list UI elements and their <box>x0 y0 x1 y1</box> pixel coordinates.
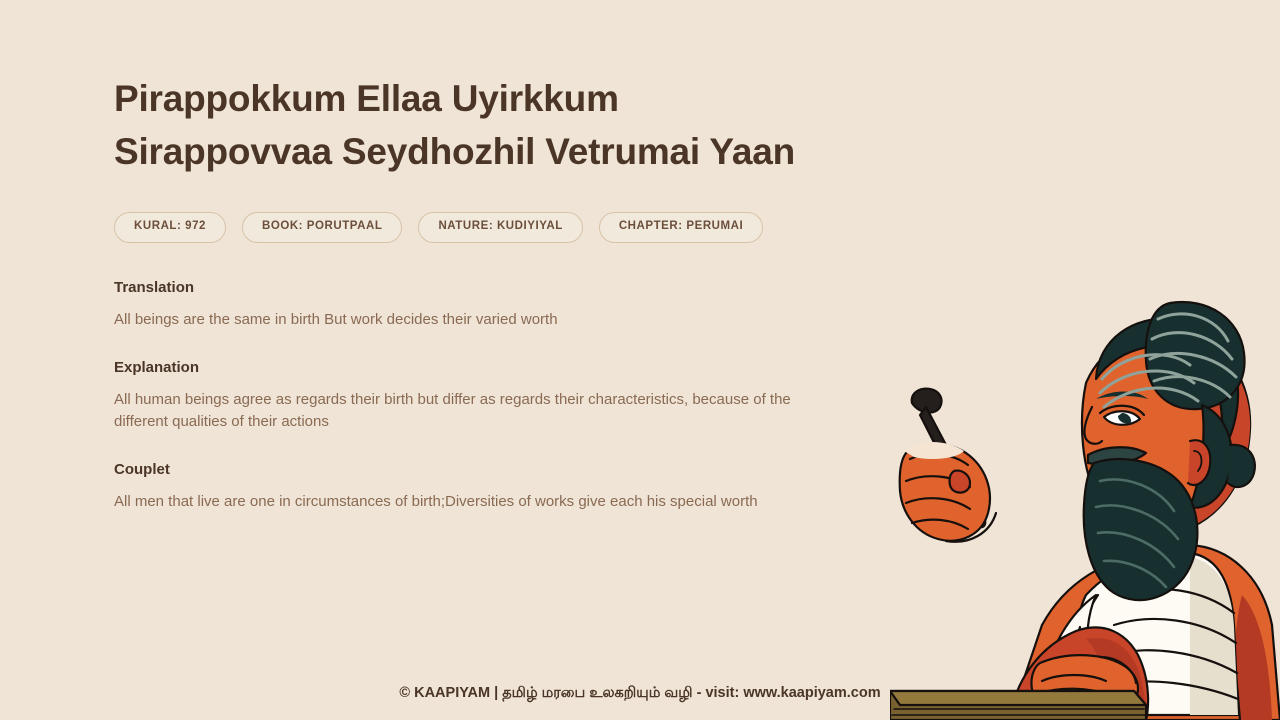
hair-tuft <box>1228 445 1255 487</box>
section-couplet: Couplet All men that live are one in cir… <box>114 461 894 513</box>
couplet-text: All men that live are one in circumstanc… <box>114 491 844 513</box>
explanation-text: All human beings agree as regards their … <box>114 389 844 433</box>
thiruvalluvar-illustration <box>890 295 1280 720</box>
content-column: Pirappokkum Ellaa Uyirkkum Sirappovvaa S… <box>114 72 894 513</box>
couplet-heading: Couplet <box>114 461 894 479</box>
translation-heading: Translation <box>114 279 894 297</box>
kural-card: Pirappokkum Ellaa Uyirkkum Sirappovvaa S… <box>0 0 1280 720</box>
section-explanation: Explanation All human beings agree as re… <box>114 359 894 433</box>
explanation-heading: Explanation <box>114 359 894 377</box>
chip-nature[interactable]: NATURE: KUDIYIYAL <box>418 212 582 243</box>
chip-kural[interactable]: KURAL: 972 <box>114 212 226 243</box>
translation-text: All beings are the same in birth But wor… <box>114 309 844 331</box>
chip-book[interactable]: BOOK: PORUTPAAL <box>242 212 402 243</box>
section-translation: Translation All beings are the same in b… <box>114 279 894 331</box>
metadata-chip-row: KURAL: 972 BOOK: PORUTPAAL NATURE: KUDIY… <box>114 212 894 243</box>
footer-credit: © KAAPIYAM | தமிழ் மரபை உலகறியும் வழி - … <box>0 685 1280 703</box>
page-title: Pirappokkum Ellaa Uyirkkum Sirappovvaa S… <box>114 72 844 178</box>
chip-chapter[interactable]: CHAPTER: PERUMAI <box>599 212 763 243</box>
thumb-knuckle <box>950 471 971 493</box>
